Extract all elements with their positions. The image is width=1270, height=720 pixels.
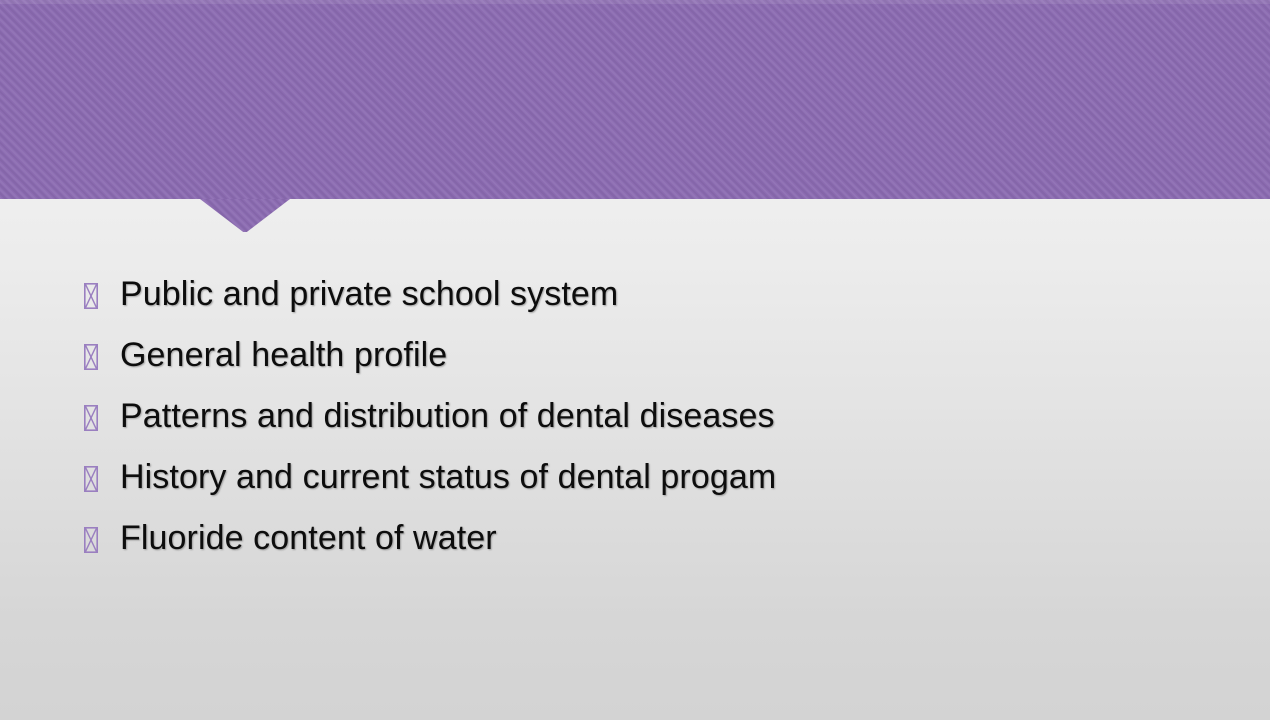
header-top-highlight — [0, 0, 1270, 4]
list-item[interactable]: Public and private school system — [84, 274, 1184, 335]
bullet-list: Public and private school system General… — [84, 274, 1184, 579]
header-notch — [200, 199, 290, 232]
list-item[interactable]: General health profile — [84, 335, 1184, 396]
list-item-label: History and current status of dental pro… — [120, 457, 1184, 497]
list-item-label: Public and private school system — [120, 274, 1184, 314]
notdef-box-icon — [84, 466, 98, 492]
notdef-box-icon — [84, 527, 98, 553]
list-item-label: Patterns and distribution of dental dise… — [120, 396, 1184, 436]
list-item[interactable]: History and current status of dental pro… — [84, 457, 1184, 518]
notdef-box-icon — [84, 405, 98, 431]
notdef-box-icon — [84, 344, 98, 370]
header-notch-shape — [200, 199, 290, 232]
list-item[interactable]: Fluoride content of water — [84, 518, 1184, 579]
notdef-box-icon — [84, 283, 98, 309]
list-item-label: Fluoride content of water — [120, 518, 1184, 558]
list-item[interactable]: Patterns and distribution of dental dise… — [84, 396, 1184, 457]
stripe-pattern-overlay — [0, 0, 1270, 199]
presentation-slide: Public and private school system General… — [0, 0, 1270, 720]
list-item-label: General health profile — [120, 335, 1184, 375]
slide-title-bar — [0, 0, 1270, 199]
